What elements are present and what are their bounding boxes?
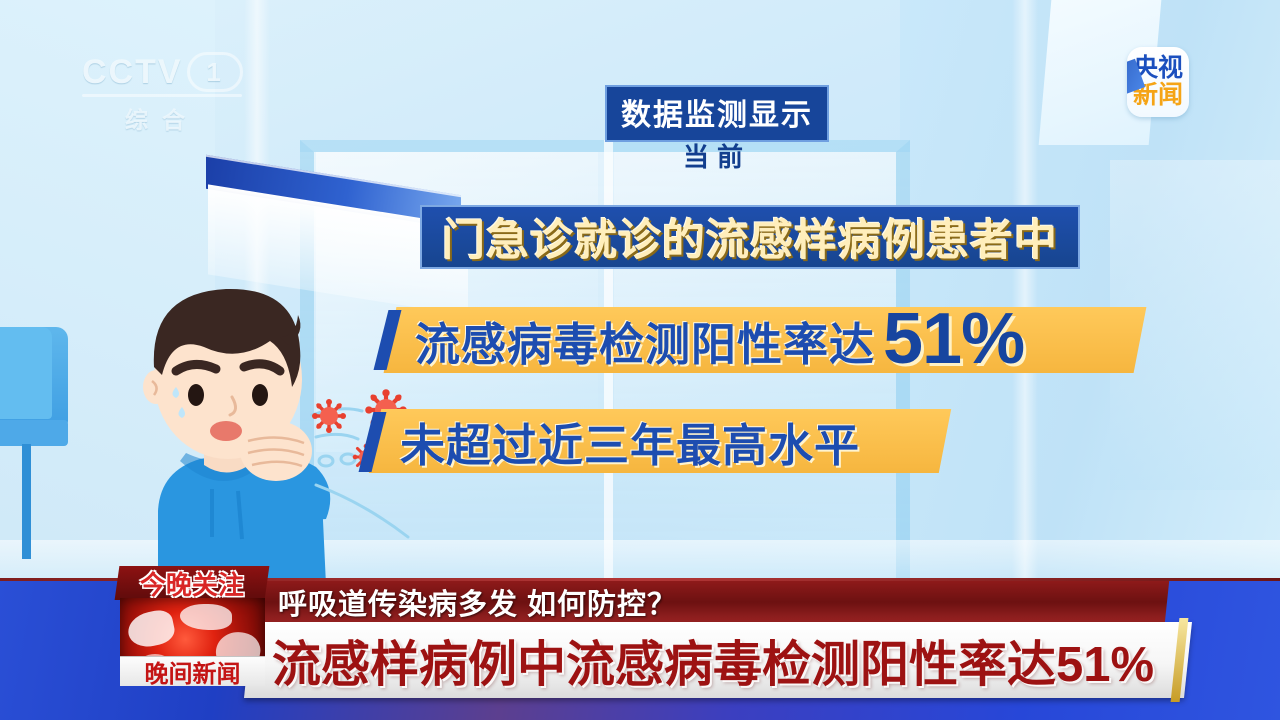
cctv-logo-text: CCTV: [82, 53, 183, 92]
cctv-logo-underline: [82, 94, 242, 97]
news-badge-line2: 新闻: [1133, 83, 1183, 109]
program-badge-name-text: 晚间新闻: [145, 654, 241, 689]
chair-seat: [0, 420, 68, 446]
globe-landmass: [180, 604, 232, 630]
headline-bar-primary: 门急诊就诊的流感样病例患者中: [420, 205, 1080, 269]
chair-post: [22, 444, 31, 559]
cctv-channel-logo: CCTV 1 综合: [82, 52, 254, 130]
headline-bar-tertiary-content: 未超过近三年最高水平: [400, 404, 960, 478]
positivity-rate-value: 51%: [883, 311, 1024, 369]
banner-main-headline: 流感样病例中流感病毒检测阳性率达51%: [272, 620, 1154, 700]
cctv-logo-subtitle: 综合: [82, 101, 242, 135]
headline-bar-primary-text: 门急诊就诊的流感样病例患者中: [442, 206, 1058, 268]
background-stripe: [1012, 0, 1038, 585]
banner-subtitle-text: 呼吸道传染病多发 如何防控？: [278, 583, 677, 621]
current-period-label: 当前: [683, 137, 751, 174]
cctv-news-badge: 央视 新闻: [1127, 47, 1189, 117]
data-monitoring-title-text: 数据监测显示: [621, 99, 813, 132]
headline-bar-tertiary-text: 未超过近三年最高水平: [400, 409, 860, 474]
news-badge-line1: 央视: [1133, 56, 1183, 82]
cctv-channel-number: 1: [187, 52, 243, 92]
data-monitoring-title: 数据监测显示: [605, 85, 829, 142]
program-badge-name: 晚间新闻: [120, 656, 265, 686]
virus-particle-icon: [311, 398, 347, 439]
cctv-logo-row: CCTV 1: [82, 52, 254, 92]
program-badge-title-text: 今晚关注: [140, 565, 244, 602]
globe-landmass: [125, 608, 177, 651]
broadcast-screen: CCTV 1 综合 央视 新闻 数据监测显示 当前 门急诊就诊的流感样病例患者中…: [0, 0, 1280, 720]
program-badge: 今晚关注 晚间新闻: [117, 566, 267, 684]
program-badge-title: 今晚关注: [115, 566, 270, 600]
headline-bar-secondary-content: 流感病毒检测阳性率达 51%: [415, 300, 1145, 380]
chair-backrest-highlight: [0, 327, 52, 419]
positivity-rate-label: 流感病毒检测阳性率达: [415, 308, 875, 373]
